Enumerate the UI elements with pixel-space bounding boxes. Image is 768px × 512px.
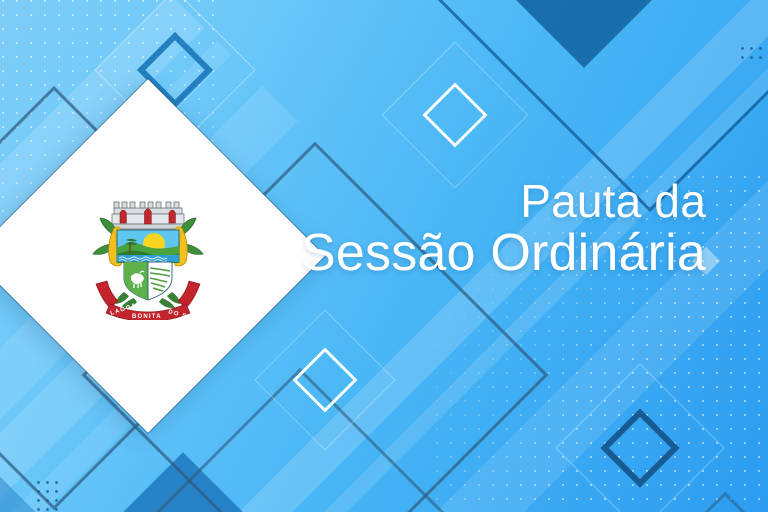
title-line-1: Pauta da: [301, 178, 706, 225]
diamond-outline-bottom-right: [492, 492, 768, 512]
diamond-ghost-top: [381, 41, 528, 188]
diamond-ghost-bottom: [254, 309, 395, 450]
session-agenda-banner: LAGOA BONITA DO SUL Pauta da Sessão Ordi…: [0, 0, 768, 512]
diamond-white-top: [422, 82, 487, 147]
triangle-top-right: [516, 0, 652, 68]
title-line-2: Sessão Ordinária: [301, 227, 706, 280]
diamond-dark-bottom-right: [600, 408, 679, 487]
dot-grid-bottom-left: [34, 478, 62, 512]
banner-title: Pauta da Sessão Ordinária: [301, 178, 706, 280]
emblem-diamond-plate: LAGOA BONITA DO SUL: [0, 79, 325, 433]
emblem-inner-wrapper: LAGOA BONITA DO SUL: [23, 131, 273, 381]
ribbon-text-center: BONITA: [132, 314, 162, 320]
diamond-white-bottom: [292, 347, 357, 412]
diamond-ghost-bottom-right: [555, 363, 725, 512]
triangle-bottom-left: [122, 452, 244, 512]
dot-grid-top-right: [738, 44, 766, 62]
triangle-bottom-left-secondary: [0, 472, 44, 512]
coat-of-arms-icon: LAGOA BONITA DO SUL: [84, 192, 212, 320]
